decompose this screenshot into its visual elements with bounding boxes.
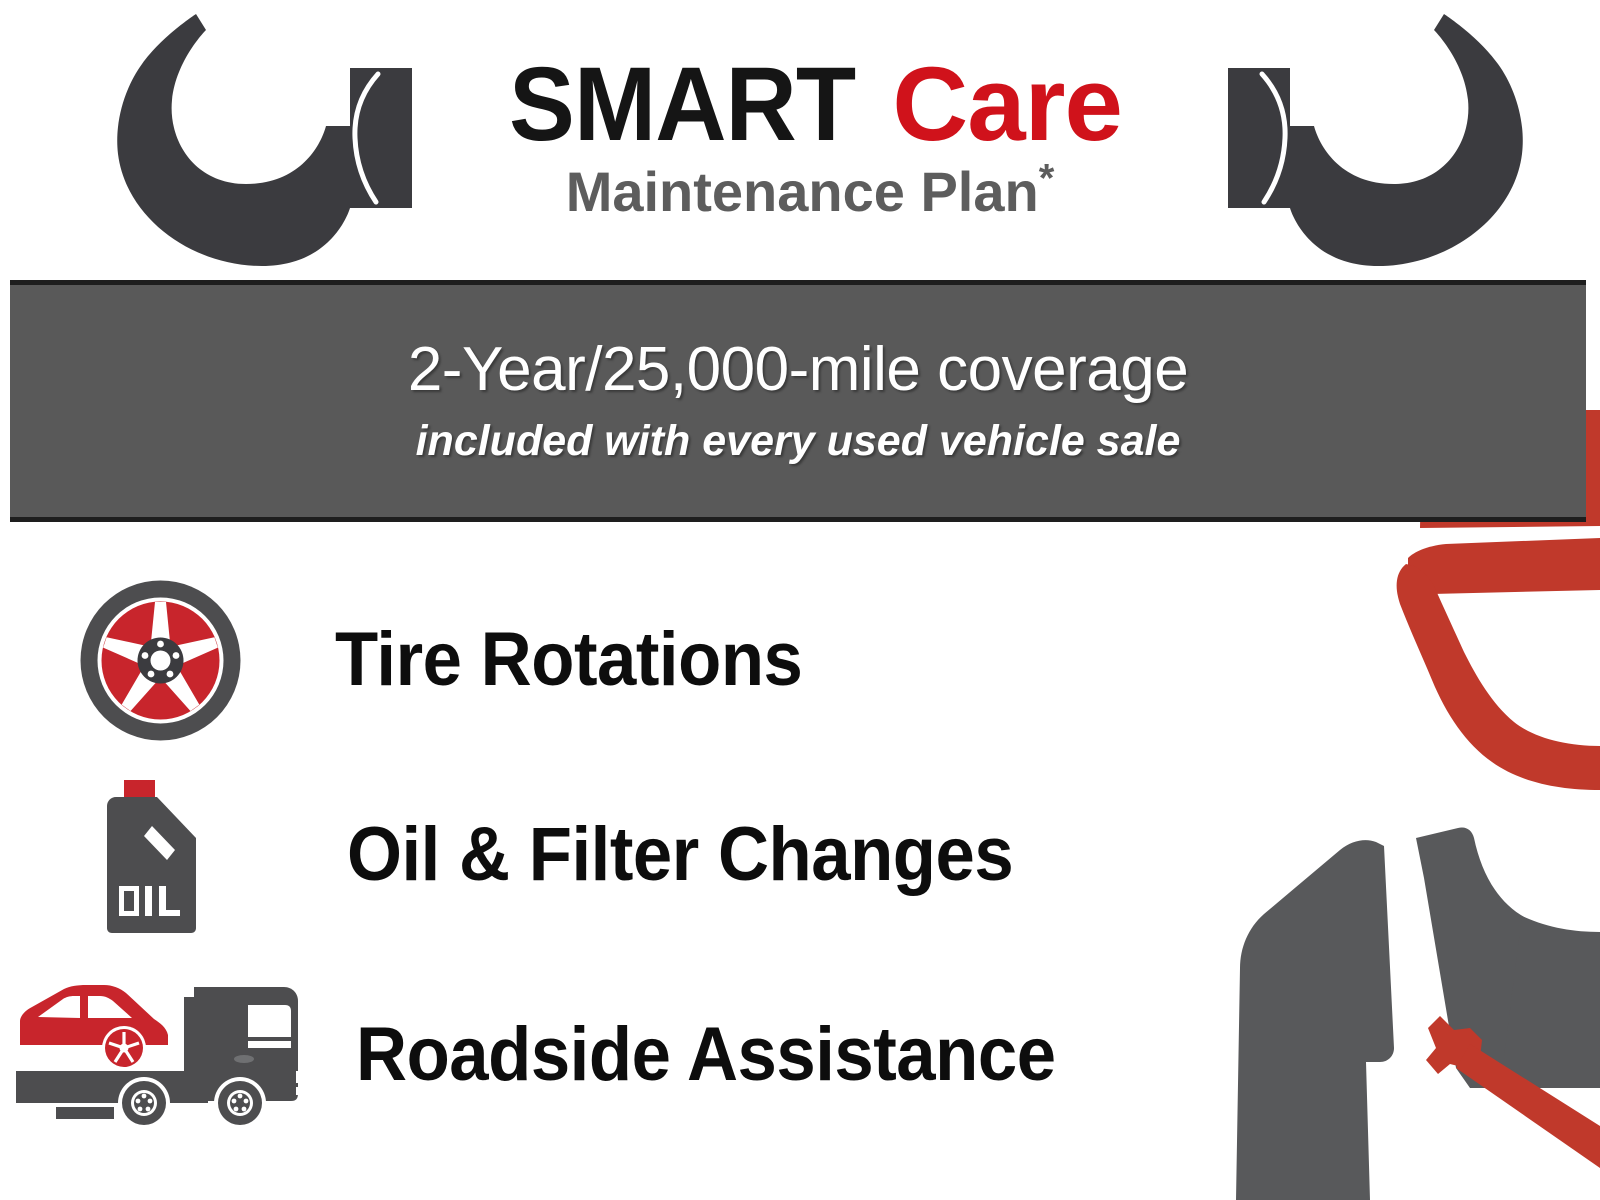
logo-wordmark: SMARTCare Maintenance Plan* [400,52,1220,222]
feature-item-oil-filter-changes: Oil & Filter Changes [95,760,1063,950]
feature-item-roadside-assistance: Roadside Assistance [8,960,1108,1150]
brand-subtitle-text: Maintenance Plan [566,160,1039,223]
feature-label-tire-rotations: Tire Rotations [335,622,802,698]
feature-label-oil-filter-changes: Oil & Filter Changes [347,817,1013,893]
coverage-banner: 2-Year/25,000-mile coverage included wit… [10,280,1586,522]
feature-list: Tire Rotations Oil & Filter Changes [0,545,1180,1185]
wrench-icon [112,8,412,268]
asterisk-marker: * [1039,156,1055,200]
brand-subtitle: Maintenance Plan* [400,163,1220,222]
tire-wheel-icon [78,578,243,743]
tow-truck-icon [8,975,328,1135]
feature-item-tire-rotations: Tire Rotations [78,565,838,755]
brand-line: SMARTCare [400,52,1220,157]
brand-name-smart: SMART [509,52,855,157]
mechanic-illustration [1170,408,1600,1200]
logo-header: SMARTCare Maintenance Plan* [0,0,1600,272]
wrench-icon [1228,8,1528,268]
feature-label-roadside-assistance: Roadside Assistance [356,1017,1056,1093]
oil-bottle-icon [95,778,210,933]
coverage-headline: 2-Year/25,000-mile coverage [408,336,1188,404]
coverage-subline: included with every used vehicle sale [416,418,1181,465]
brand-name-care: Care [892,52,1121,157]
smart-care-poster: SMARTCare Maintenance Plan* 2-Year/25,00… [0,0,1600,1200]
